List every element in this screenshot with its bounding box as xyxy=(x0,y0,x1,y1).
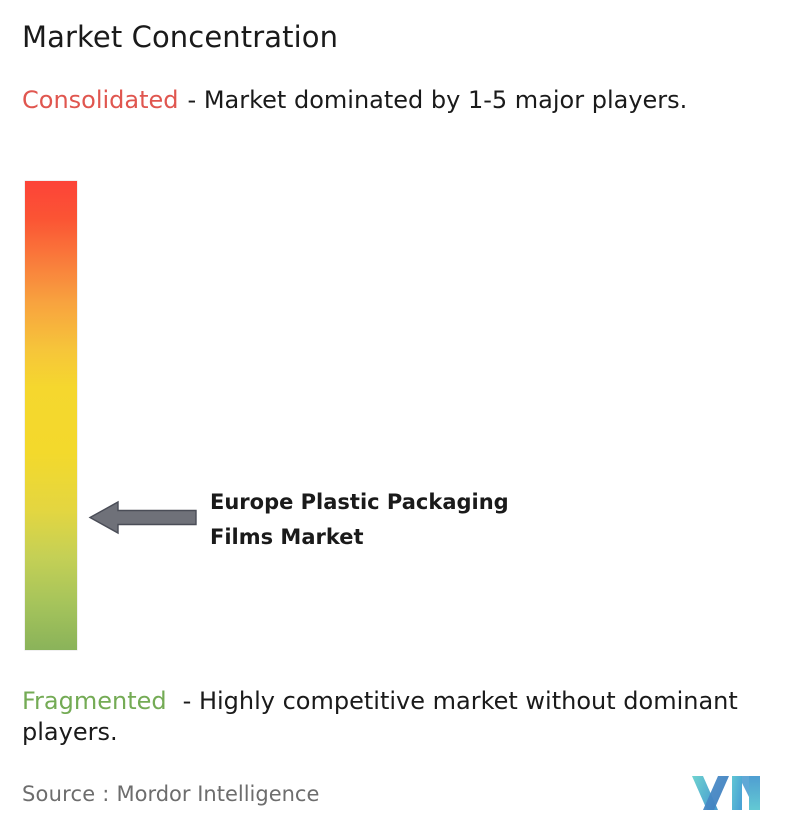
market-concentration-infographic: Market Concentration Consolidated- Marke… xyxy=(0,0,796,834)
series-label: Europe Plastic Packaging Films Market xyxy=(210,485,640,555)
legend-separator-fragmented: - xyxy=(183,687,192,715)
source-name: Mordor Intelligence xyxy=(116,782,319,806)
source-label: Source : xyxy=(22,782,109,806)
left-arrow-icon xyxy=(88,498,198,538)
legend-description-consolidated: Market dominated by 1-5 major players. xyxy=(204,86,687,114)
legend-term-consolidated: Consolidated xyxy=(22,86,179,114)
legend-separator-consolidated: - xyxy=(188,86,197,114)
mordor-intelligence-logo-icon xyxy=(692,771,764,815)
series-label-line-1: Europe Plastic Packaging xyxy=(210,485,640,520)
legend-term-fragmented: Fragmented xyxy=(22,687,167,715)
source-attribution: Source :Mordor Intelligence xyxy=(22,782,319,806)
series-label-line-2: Films Market xyxy=(210,520,640,555)
legend-fragmented: Fragmented- Highly competitive market wi… xyxy=(22,686,782,748)
legend-consolidated: Consolidated- Market dominated by 1-5 ma… xyxy=(22,85,774,116)
concentration-gradient-bar xyxy=(25,181,77,650)
page-title: Market Concentration xyxy=(22,20,338,54)
